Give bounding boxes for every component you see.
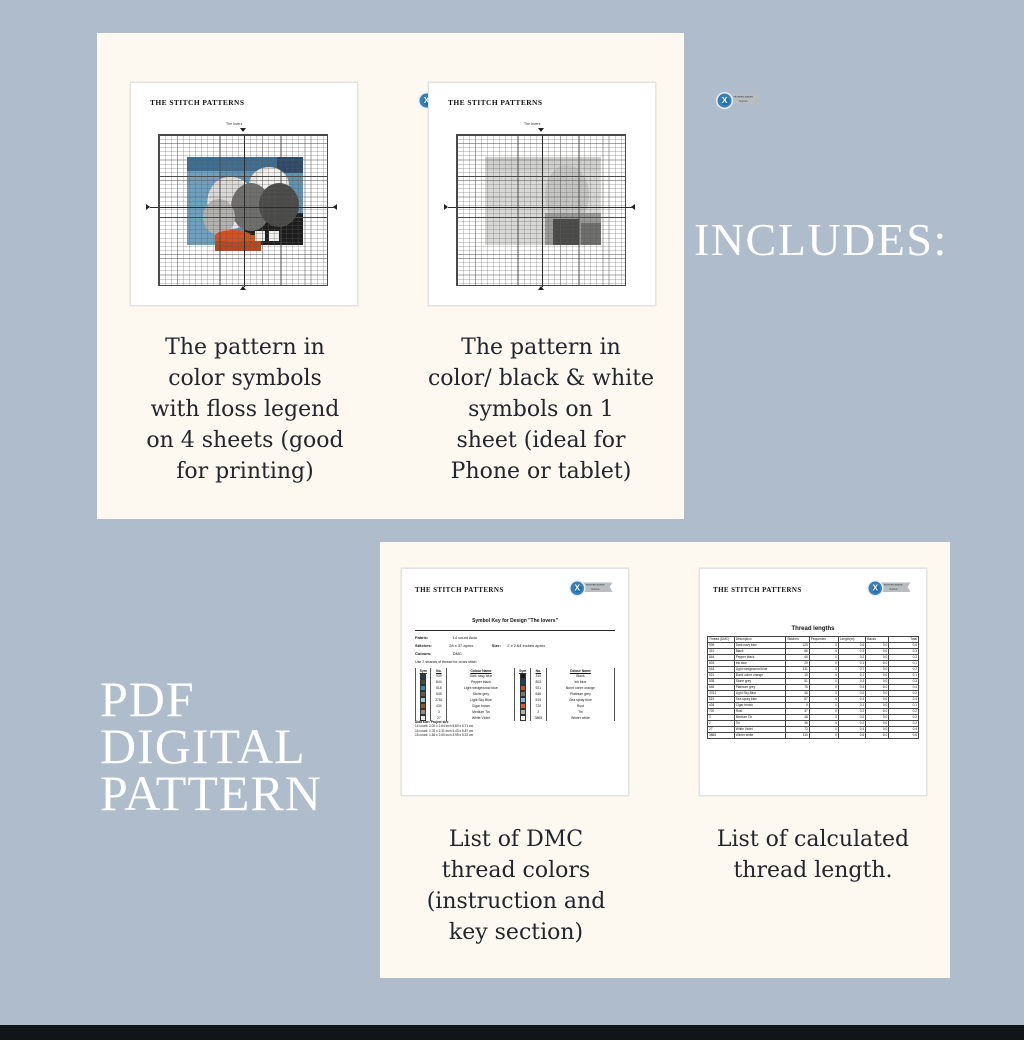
caption-line: thread colors <box>405 855 627 886</box>
coarse-grid-lines-bw <box>457 135 625 285</box>
pdf-headline-line: DIGITAL <box>100 723 322 770</box>
badge-x-mark: X <box>716 92 733 109</box>
chart-area-bw: The lovers <box>446 122 638 297</box>
caption-line: color/ black & white <box>412 363 670 394</box>
thread-lengths-row: 3865Winter white11000.60.00.6 <box>708 733 919 739</box>
caption-bw-symbols: The pattern in color/ black & white symb… <box>412 332 670 487</box>
symbol-key-body: 939Dark navy blue310Black844Pepper black… <box>416 673 615 721</box>
meta-fabric-value: 14 count Aida <box>453 635 477 640</box>
sheet-brand-title: THE STITCH PATTERNS <box>415 586 504 594</box>
chart-title-label: The lovers <box>226 122 242 126</box>
includes-headline: INCLUDES: <box>694 213 948 266</box>
meta-colours-value: DMC <box>453 651 462 656</box>
bottom-strip <box>0 1025 1024 1040</box>
meta-colours: Colours: DMC <box>415 651 462 656</box>
caption-line: for printing) <box>129 456 361 487</box>
caption-thread-length: List of calculated thread length. <box>697 824 929 886</box>
cell-thread: 3865 <box>708 733 735 739</box>
caption-line: color symbols <box>129 363 361 394</box>
pdf-headline-line: PDF <box>100 676 322 723</box>
caption-line: (instruction and <box>405 886 627 917</box>
cell-stitches: 110 <box>786 733 809 739</box>
thread-lengths-table: Thread (DMC) Description Stitches Pequen… <box>707 636 919 739</box>
caption-line: with floss legend <box>129 394 361 425</box>
pdf-headline: PDF DIGITAL PATTERN <box>100 676 322 817</box>
meta-stitches-label: Stitches: <box>415 643 432 648</box>
thread-lengths-body: 939Dark navy blue12500.60.00.6310Black66… <box>708 643 919 739</box>
stitch-grid-color <box>158 134 328 286</box>
sheet-brand-title: THE STITCH PATTERNS <box>150 98 244 107</box>
meta-stitches: Stitches: 28 x 37 aprox Size: 2 x 2.64 i… <box>415 643 545 648</box>
cell-pequenies: 0 <box>809 733 838 739</box>
chart-area-color: The lovers <box>148 122 340 297</box>
center-axis-vertical-bw <box>542 135 543 287</box>
symbol-key-heading: Symbol Key for Design "The lovers" <box>401 618 629 624</box>
project-size-block: Aida size: Project size 14 count: 2.00 x… <box>415 720 473 738</box>
cell-total: 0.6 <box>889 733 919 739</box>
pdf-headline-line: PATTERN <box>100 770 322 817</box>
chart-title-label: The lovers <box>524 122 540 126</box>
project-size-line: 16 count: 1.75 x 2.31 inch 4.43 x 5.87 c… <box>415 729 473 733</box>
stitch-grid-bw <box>456 134 626 286</box>
symbol-swatch <box>520 715 526 721</box>
caption-line: key section) <box>405 917 627 948</box>
meta-fabric-label: Fabric: <box>415 635 428 640</box>
sheet-bw-symbols[interactable]: THE STITCH PATTERNS PATTERN MAKER TESTED… <box>428 82 656 306</box>
strands-note: Use 2 strands of thread for cross stitch <box>415 660 477 664</box>
coarse-grid-lines-color <box>159 135 327 285</box>
symbol-key-table: Sym No. Colour Name Sym No. Colour Name … <box>415 668 615 721</box>
meta-stitches-value: 28 x 37 aprox <box>449 643 473 648</box>
center-axis-horizontal-color <box>159 207 329 208</box>
center-axis-vertical-color <box>244 135 245 287</box>
sheet-symbol-key[interactable]: THE STITCH PATTERNS PATTERN MAKER TESTED… <box>401 568 629 796</box>
cell-description: Winter white <box>734 733 786 739</box>
caption-line: The pattern in <box>412 332 670 363</box>
caption-line: symbols on 1 <box>412 394 670 425</box>
thread-lengths-title: Thread lengths <box>699 626 927 632</box>
poster-stage: THE STITCH PATTERNS PATTERN MAKER TESTED… <box>0 0 1024 1040</box>
project-size-line: 14 count: 2.00 x 2.64 inch 5.80 x 6.71 c… <box>415 724 473 728</box>
project-size-title: Aida size: Project size <box>415 720 448 724</box>
heading-rule <box>415 630 615 631</box>
caption-line: sheet (ideal for <box>412 425 670 456</box>
meta-colours-label: Colours: <box>415 651 431 656</box>
caption-line: on 4 sheets (good <box>129 425 361 456</box>
caption-line: thread length. <box>697 855 929 886</box>
cell-colour-name: Winter white <box>546 715 614 721</box>
caption-line: List of calculated <box>697 824 929 855</box>
meta-fabric: Fabric: 14 count Aida <box>415 635 477 640</box>
cell-length: 0.6 <box>838 733 865 739</box>
caption-line: The pattern in <box>129 332 361 363</box>
sheet-brand-title: THE STITCH PATTERNS <box>448 98 542 107</box>
sheet-color-symbols[interactable]: THE STITCH PATTERNS PATTERN MAKER TESTED… <box>130 82 358 306</box>
center-axis-horizontal-bw <box>457 207 627 208</box>
caption-line: List of DMC <box>405 824 627 855</box>
badge-x-mark: X <box>867 580 884 597</box>
project-size-line: 18 count: 1.56 x 2.60 inch 3.95 x 5.22 c… <box>415 733 473 737</box>
marker-top-arrow <box>538 128 544 132</box>
cell-symbol <box>515 715 530 721</box>
sheet-brand-title: THE STITCH PATTERNS <box>713 586 802 594</box>
cell-backs: 0.0 <box>866 733 889 739</box>
caption-color-symbols: The pattern in color symbols with floss … <box>129 332 361 487</box>
caption-line: Phone or tablet) <box>412 456 670 487</box>
marker-top-arrow <box>240 128 246 132</box>
meta-size-label: Size: <box>492 643 501 648</box>
cell-number: 3865 <box>530 715 546 721</box>
sheet-thread-lengths[interactable]: THE STITCH PATTERNS PATTERN MAKER TESTED… <box>699 568 927 796</box>
meta-size-value: 2 x 2.64 inches aprox <box>507 643 545 648</box>
badge-x-mark: X <box>569 580 586 597</box>
caption-dmc-list: List of DMC thread colors (instruction a… <box>405 824 627 948</box>
